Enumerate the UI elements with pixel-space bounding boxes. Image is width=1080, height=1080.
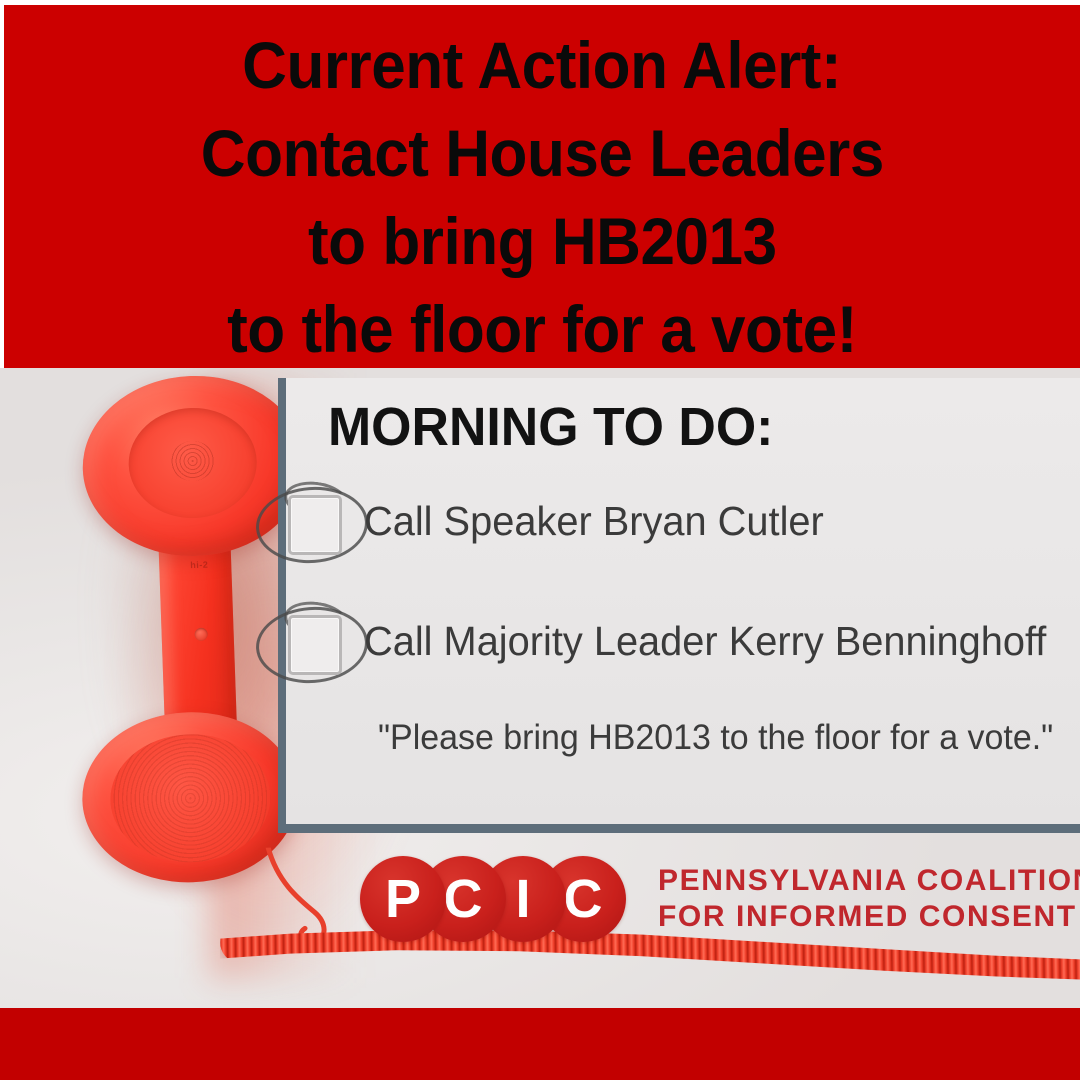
photo-region: hi-2 MORNING TO DO: Call Speaker Br: [0, 368, 1080, 1008]
handset-earpiece-inner: [127, 406, 259, 520]
checkbox-icon[interactable]: [288, 615, 342, 675]
action-alert-poster: Current Action Alert: Contact House Lead…: [0, 0, 1080, 1080]
pcic-logo: P C I C PENNSYLVANIA COALITION FOR INFOR…: [360, 856, 1080, 942]
footer-bar: [0, 1008, 1080, 1080]
checkbox-circled-1[interactable]: [254, 477, 364, 565]
pcic-logo-mark: P C I C: [360, 856, 622, 942]
todo-item-1[interactable]: Call Speaker Bryan Cutler: [286, 477, 1080, 565]
checkbox-icon[interactable]: [288, 495, 342, 555]
todo-item-2-label: Call Majority Leader Kerry Benninghoff: [364, 618, 1046, 665]
handset-model-label: hi-2: [182, 559, 216, 570]
todo-item-1-label: Call Speaker Bryan Cutler: [364, 498, 824, 545]
memo-quote-text: "Please bring HB2013 to the floor for a …: [378, 718, 1053, 758]
alert-banner: Current Action Alert: Contact House Lead…: [4, 5, 1080, 368]
morning-todo-card: MORNING TO DO: Call Speaker Bryan Cutler…: [278, 378, 1080, 833]
alert-heading-line-3: to bring HB2013: [308, 197, 777, 285]
memo-title: MORNING TO DO:: [328, 396, 773, 458]
todo-item-2[interactable]: Call Majority Leader Kerry Benninghoff: [286, 597, 1080, 685]
pcic-letter-p: P: [360, 856, 446, 942]
pcic-tagline-line-1: PENNSYLVANIA COALITION: [658, 863, 1080, 899]
handset-mouthpiece-grill: [108, 732, 272, 866]
pcic-tagline: PENNSYLVANIA COALITION FOR INFORMED CONS…: [658, 863, 1080, 935]
handset-earpiece-grill: [170, 440, 215, 482]
checkbox-circled-2[interactable]: [254, 597, 364, 685]
alert-heading-line-4: to the floor for a vote!: [227, 285, 857, 368]
alert-heading-line-2: Contact House Leaders: [200, 109, 883, 197]
pcic-tagline-line-2: FOR INFORMED CONSENT: [658, 899, 1080, 935]
alert-heading-line-1: Current Action Alert:: [242, 21, 841, 109]
